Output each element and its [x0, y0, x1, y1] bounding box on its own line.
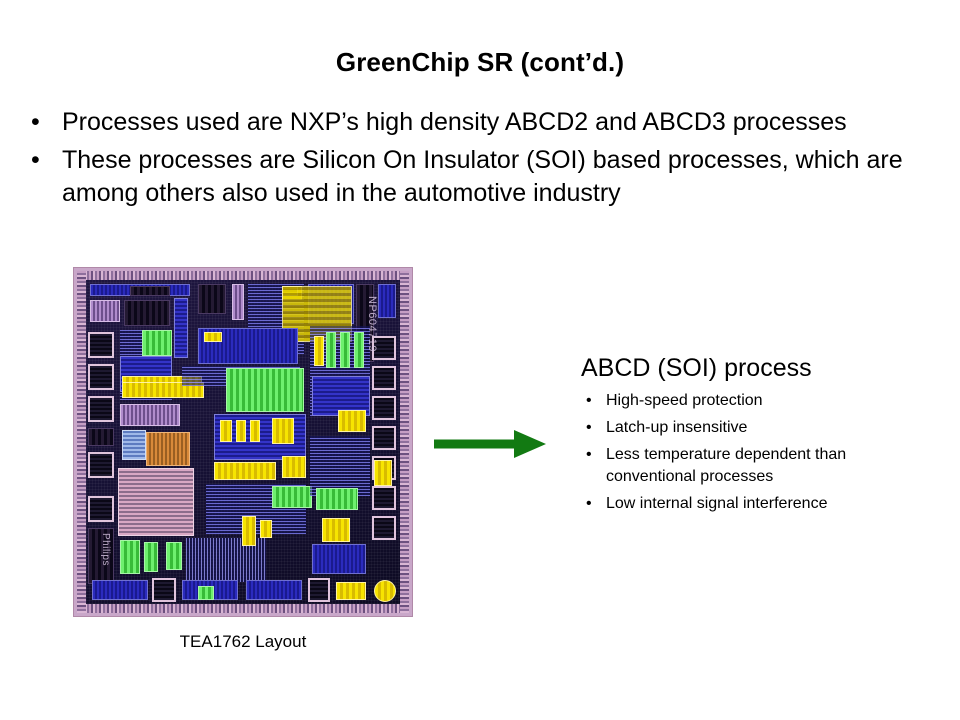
die-bond-pad [88, 396, 114, 422]
arrow-head [514, 430, 546, 458]
die-seal-ring-top [77, 271, 409, 280]
bullet-dot-icon: • [31, 106, 40, 139]
die-core-area: NP604719 Philips [86, 280, 400, 604]
die-block [314, 336, 324, 366]
die-block [198, 586, 214, 600]
process-info-panel: ABCD (SOI) process • High-speed protecti… [581, 352, 936, 520]
die-block [226, 368, 304, 412]
bullet-dot-icon: • [586, 417, 592, 439]
die-bond-pad [308, 578, 330, 602]
page-title: GreenChip SR (cont’d.) [0, 47, 960, 78]
main-bullet-list: • Processes used are NXP’s high density … [26, 106, 936, 215]
die-block [378, 284, 396, 318]
die-bond-pad [88, 332, 114, 358]
die-block [204, 332, 222, 342]
die-photo-figure: NP604719 Philips [74, 268, 412, 616]
die-block [374, 460, 392, 486]
die-bond-pad [372, 426, 396, 450]
process-panel-heading: ABCD (SOI) process [581, 352, 936, 384]
bullet-dot-icon: • [31, 144, 40, 177]
die-block [142, 330, 172, 356]
die-block [166, 542, 182, 570]
die-block [312, 544, 366, 574]
die-block [354, 332, 364, 368]
process-bullet-1-text: High-speed protection [606, 392, 763, 409]
die-block [322, 518, 350, 542]
die-block [272, 486, 312, 508]
die-part-number-label: NP604719 [366, 296, 378, 352]
slide-canvas: GreenChip SR (cont’d.) • Processes used … [0, 0, 960, 720]
die-block [326, 332, 336, 368]
die-block [316, 488, 358, 510]
die-seal-ring-bottom [77, 604, 409, 613]
die-bond-pad [152, 578, 176, 602]
bullet-dot-icon: • [586, 444, 592, 466]
process-bullet-4-text: Low internal signal interference [606, 495, 827, 512]
die-block [232, 284, 244, 320]
die-block [120, 540, 140, 574]
die-block [130, 286, 170, 296]
die-bond-pad [372, 486, 396, 510]
die-block [246, 580, 302, 600]
process-bullet-2-text: Latch-up insensitive [606, 419, 747, 436]
die-block [336, 582, 366, 600]
bullet-dot-icon: • [586, 390, 592, 412]
figure-caption: TEA1762 Layout [74, 632, 412, 652]
die-bond-pad [88, 496, 114, 522]
die-memory-array [118, 468, 194, 536]
bullet-dot-icon: • [586, 493, 592, 515]
green-right-arrow-icon [432, 428, 548, 460]
die-block [214, 462, 276, 480]
die-block [282, 456, 306, 478]
die-block [174, 298, 188, 358]
die-block [92, 580, 148, 600]
bullet-item-2-text: These processes are Silicon On Insulator… [62, 144, 936, 210]
die-block [198, 284, 226, 314]
die-bond-pad [88, 452, 114, 478]
bullet-item-1: • Processes used are NXP’s high density … [26, 106, 936, 139]
die-block [88, 428, 114, 446]
die-block [338, 410, 366, 432]
die-block [90, 300, 120, 322]
die-block [374, 580, 396, 602]
die-block [220, 420, 232, 442]
process-bullet-4: • Low internal signal interference [581, 493, 936, 515]
die-bond-pad [372, 516, 396, 540]
die-block [250, 420, 260, 442]
process-bullet-2: • Latch-up insensitive [581, 417, 936, 439]
die-brand-label: Philips [100, 533, 111, 566]
die-block [124, 300, 170, 326]
die-block [236, 420, 246, 442]
die-block [242, 516, 256, 546]
process-bullet-3-text: Less temperature dependent than conventi… [606, 446, 846, 485]
die-block [340, 332, 350, 368]
die-block [144, 542, 158, 572]
die-seal-ring-left [77, 271, 86, 613]
bullet-item-2: • These processes are Silicon On Insulat… [26, 144, 936, 210]
die-bond-pad [372, 366, 396, 390]
process-bullet-1: • High-speed protection [581, 390, 936, 412]
die-block [122, 430, 146, 460]
die-photo-image: NP604719 Philips [74, 268, 412, 616]
die-block [260, 520, 272, 538]
die-block [272, 418, 294, 444]
die-block [120, 404, 180, 426]
die-bond-pad [372, 396, 396, 420]
die-seal-ring-right [400, 271, 409, 613]
die-routing [310, 436, 370, 496]
bullet-item-1-text: Processes used are NXP’s high density AB… [62, 106, 936, 139]
die-block [146, 432, 190, 466]
die-bond-pad [88, 364, 114, 390]
process-bullet-3: • Less temperature dependent than conven… [581, 444, 936, 488]
